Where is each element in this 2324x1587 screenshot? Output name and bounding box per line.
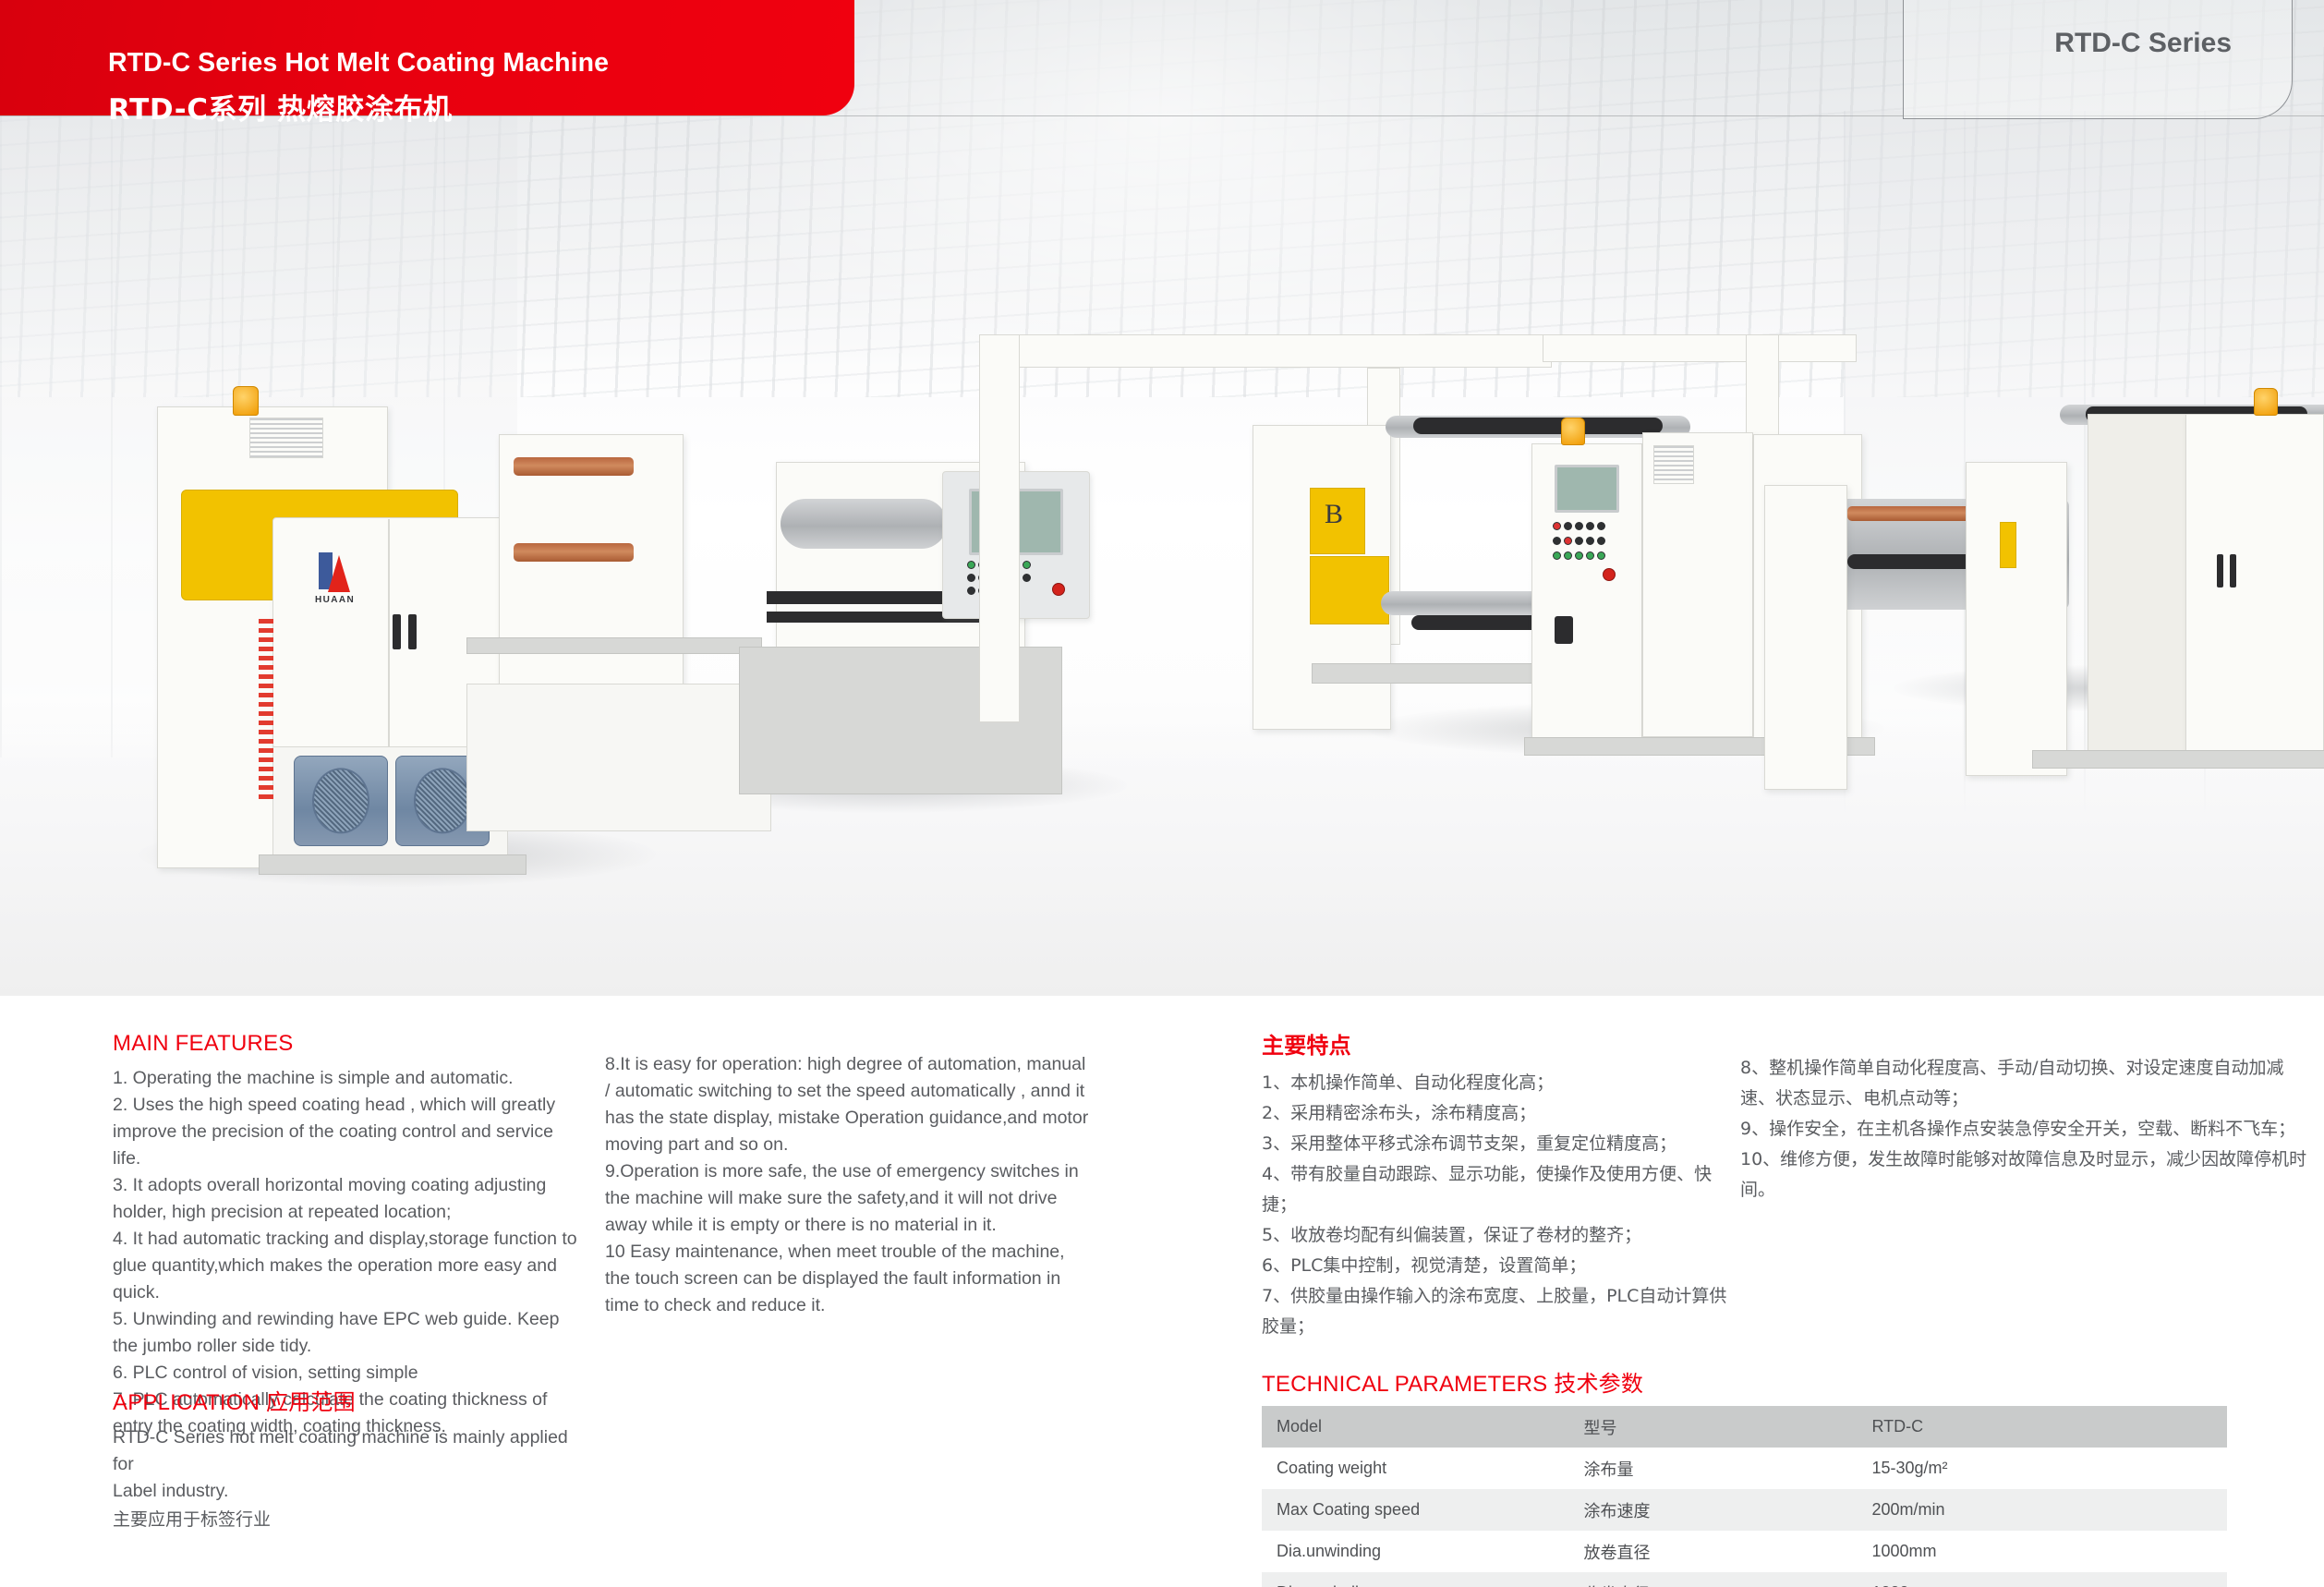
table-cell: 涂布量: [1569, 1448, 1858, 1489]
feature-item-cn: 7、供胶量由操作输入的涂布宽度、上胶量，PLC自动计算供胶量；: [1262, 1281, 1742, 1342]
blower-motor: [294, 756, 388, 846]
feature-item: 9.Operation is more safe, the use of eme…: [605, 1158, 1090, 1239]
features-cn-column-2: 8、整机操作简单自动化程度高、手动/自动切换、对设定速度自动加减速、状态显示、电…: [1740, 1053, 2313, 1205]
emergency-stop-button[interactable]: [1052, 583, 1065, 596]
title-banner: RTD-C Series Hot Melt Coating Machine RT…: [0, 0, 854, 115]
table-row: Dia.unwinding放卷直径1000mm: [1262, 1531, 2227, 1572]
fan-grille: [312, 768, 369, 833]
technical-parameters-table: Model型号RTD-CCoating weight涂布量15-30g/m²Ma…: [1262, 1406, 2227, 1587]
table-cell: 放卷直径: [1569, 1531, 1858, 1572]
feature-item-cn: 5、收放卷均配有纠偏装置，保证了卷材的整齐；: [1262, 1220, 1742, 1251]
table-cell: Coating weight: [1262, 1448, 1569, 1489]
logo-red-arrow: [328, 555, 350, 592]
warning-beacon: [1561, 418, 1585, 445]
table-cell: 1000mm: [1857, 1531, 2227, 1572]
warning-beacon: [2254, 388, 2278, 416]
table-row: Model型号RTD-C: [1262, 1406, 2227, 1448]
technical-parameters-title: TECHNICAL PARAMETERS 技术参数: [1262, 1365, 2227, 1398]
feature-item-cn: 1、本机操作简单、自动化程度化高；: [1262, 1068, 1742, 1098]
coating-machine-illustration: HUAAN: [0, 0, 2324, 996]
feature-item: 2. Uses the high speed coating head , wh…: [113, 1092, 584, 1172]
table-cell: Dia.rewinding: [1262, 1572, 1569, 1587]
lower-frame: [466, 684, 771, 831]
product-photo: HUAAN: [0, 0, 2324, 996]
door-handle: [2217, 554, 2223, 588]
feature-item: 10 Easy maintenance, when meet trouble o…: [605, 1239, 1090, 1319]
brochure-page: HUAAN: [0, 0, 2324, 1587]
title-cn: RTD-C系列 热熔胶涂布机: [108, 86, 453, 127]
feature-item-cn: 10、维修方便，发生故障时能够对故障信息及时显示，减少因故障停机时间。: [1740, 1145, 2313, 1205]
operator-console: [1531, 443, 1642, 748]
cabinet-far-right-door: [2185, 414, 2324, 757]
guide-roller: [514, 457, 634, 476]
button-row[interactable]: [1553, 522, 1605, 530]
content-area: MAIN FEATURES 1. Operating the machine i…: [0, 996, 2324, 1587]
table-cell: 200m/min: [1857, 1489, 2227, 1531]
vent-grille: [249, 418, 323, 458]
main-features-column-1: MAIN FEATURES 1. Operating the machine i…: [113, 1031, 584, 1440]
table-cell: Dia.unwinding: [1262, 1531, 1569, 1572]
feature-item-cn: 8、整机操作简单自动化程度高、手动/自动切换、对设定速度自动加减速、状态显示、电…: [1740, 1053, 2313, 1114]
application-title: APPLICATION 应用范围: [113, 1384, 593, 1416]
gantry-column-left: [979, 334, 1020, 722]
table-cell: 型号: [1569, 1406, 1858, 1448]
guide-roller: [514, 543, 634, 562]
gantry-column-right: [1746, 334, 1779, 445]
table-cell: RTD-C: [1857, 1406, 2227, 1448]
main-features-column-2: 8.It is easy for operation: high degree …: [605, 1051, 1090, 1319]
button-row[interactable]: [1553, 551, 1605, 560]
application-line-cn: 主要应用于标签行业: [113, 1505, 593, 1535]
table-row: Coating weight涂布量15-30g/m²: [1262, 1448, 2227, 1489]
feature-item-cn: 9、操作安全，在主机各操作点安装急停安全开关，空载、断料不飞车；: [1740, 1114, 2313, 1145]
socket: [1555, 616, 1573, 644]
door-handle: [2230, 554, 2236, 588]
fan-grille: [414, 768, 471, 833]
feature-item: 5. Unwinding and rewinding have EPC web …: [113, 1306, 584, 1360]
yellow-guard-b: [1310, 556, 1389, 624]
yellow-marker: [2000, 522, 2016, 568]
button-row[interactable]: [1553, 537, 1605, 545]
features-cn-title: 主要特点: [1262, 1027, 1742, 1060]
feature-item-cn: 3、采用整体平移式涂布调节支架，重复定位精度高；: [1262, 1129, 1742, 1159]
warning-beacon: [233, 386, 259, 416]
feature-item: 4. It had automatic tracking and display…: [113, 1226, 584, 1306]
rewind-tower: [1966, 462, 2067, 776]
main-features-title: MAIN FEATURES: [113, 1031, 584, 1057]
cabinet-door-seam: [388, 519, 390, 746]
table-row: Max Coating speed涂布速度200m/min: [1262, 1489, 2227, 1531]
feature-item-cn: 2、采用精密涂布头，涂布精度高；: [1262, 1098, 1742, 1129]
table-row: Dia.rewinding收卷直径1000mm: [1262, 1572, 2227, 1587]
application-line-en-1: RTD-C Series hot melt coating machine is…: [113, 1424, 593, 1478]
feature-item-cn: 4、带有胶量自动跟踪、显示功能，使操作及使用方便、快捷；: [1262, 1159, 1742, 1220]
features-cn-column-1: 主要特点 1、本机操作简单、自动化程度化高； 2、采用精密涂布头，涂布精度高； …: [1262, 1027, 1742, 1342]
emergency-stop-button[interactable]: [1603, 568, 1616, 581]
feature-item: 8.It is easy for operation: high degree …: [605, 1051, 1090, 1158]
rewind-frame: [1764, 485, 1847, 790]
machine-base-left: [259, 854, 527, 875]
table-cell: 收卷直径: [1569, 1572, 1858, 1587]
vent-grille: [1653, 445, 1694, 484]
table-cell: Model: [1262, 1406, 1569, 1448]
application-section: APPLICATION 应用范围 RTD-C Series hot melt c…: [113, 1384, 593, 1535]
door-handle: [408, 614, 417, 649]
feature-item: 1. Operating the machine is simple and a…: [113, 1065, 584, 1092]
series-tab: [1903, 0, 2293, 119]
feature-item: 3. It adopts overall horizontal moving c…: [113, 1172, 584, 1226]
feature-item: 6. PLC control of vision, setting simple: [113, 1360, 584, 1387]
spiral-cable: [259, 619, 273, 804]
technical-parameters-section: TECHNICAL PARAMETERS 技术参数 Model型号RTD-CCo…: [1262, 1365, 2227, 1587]
huaan-logo: HUAAN: [319, 552, 350, 593]
coating-roller: [781, 499, 947, 549]
series-label: RTD-C Series: [2054, 28, 2232, 59]
table-cell: Max Coating speed: [1262, 1489, 1569, 1531]
hmi-screen[interactable]: [1555, 465, 1619, 513]
table-cell: 15-30g/m²: [1857, 1448, 2227, 1489]
table-cell: 涂布速度: [1569, 1489, 1858, 1531]
application-line-en-2: Label industry.: [113, 1478, 593, 1505]
title-en: RTD-C Series Hot Melt Coating Machine: [108, 48, 609, 79]
table-cell: 1000mm: [1857, 1572, 2227, 1587]
cabinet-base: [2032, 750, 2324, 769]
door-handle: [393, 614, 401, 649]
feature-item-cn: 6、PLC集中控制，视觉清楚，设置简单；: [1262, 1251, 1742, 1281]
logo-wordmark: HUAAN: [315, 595, 355, 605]
rail: [466, 637, 762, 654]
shaft-dark: [1413, 418, 1663, 434]
unwind-marker-label: B: [1325, 499, 1343, 530]
gantry-beam-right: [1543, 334, 1857, 362]
